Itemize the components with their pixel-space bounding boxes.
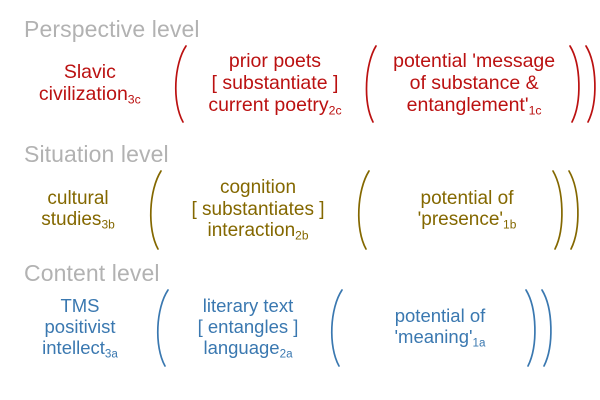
- middle-term-subscript: 2a: [280, 347, 293, 360]
- middle-term-line: language2a: [172, 338, 324, 360]
- inner-term-word: 'meaning': [395, 326, 473, 347]
- open-paren-middle-content: [150, 288, 172, 368]
- middle-term-subscript: 2c: [329, 103, 342, 117]
- outer-term-line: TMS: [18, 296, 142, 317]
- open-paren-inner-content: [324, 288, 346, 368]
- outer-term-line: positivist: [18, 317, 142, 338]
- open-paren-middle-situation: [143, 169, 165, 251]
- inner-term-line: potential of: [356, 306, 524, 327]
- outer-term-line: Slavic: [18, 61, 162, 83]
- close-paren-inner-perspective: [568, 44, 584, 124]
- outer-term-line: studies3b: [18, 209, 138, 232]
- middle-term-line: [ entangles ]: [172, 317, 324, 338]
- inner-term-line: potential of: [383, 188, 551, 209]
- level-title-content: Content level: [0, 262, 600, 285]
- close-paren-middle-situation: [567, 169, 583, 251]
- three-level-notation-diagram: Perspective level Slavic civilization3c …: [0, 0, 600, 400]
- middle-term-line: prior poets: [190, 50, 361, 72]
- middle-term-line: cognition: [165, 177, 351, 198]
- outer-term-subscript: 3c: [128, 92, 141, 106]
- open-paren-middle-perspective: [168, 44, 190, 124]
- level-title-perspective: Perspective level: [0, 18, 600, 41]
- inner-term-line: 'meaning'1a: [356, 327, 524, 349]
- middle-term-word: language: [203, 337, 279, 358]
- level-group-situation: Situation level cultural studies3b cogni…: [0, 143, 600, 251]
- middle-term-line: interaction2b: [165, 220, 351, 243]
- middle-term-line: current poetry2c: [190, 94, 361, 118]
- outer-term-word: studies: [41, 209, 101, 230]
- outer-term-perspective: Slavic civilization3c: [18, 61, 162, 107]
- inner-term-subscript: 1b: [503, 218, 516, 232]
- middle-term-word: current poetry: [208, 94, 328, 116]
- close-paren-inner-content: [524, 288, 540, 368]
- open-paren-inner-perspective: [360, 44, 380, 124]
- outer-term-line: civilization3c: [18, 83, 162, 107]
- expression-row-content: TMS positivist intellect3a literary text…: [0, 288, 600, 368]
- outer-term-subscript: 3b: [101, 218, 114, 232]
- close-paren-middle-content: [540, 288, 556, 368]
- level-group-content: Content level TMS positivist intellect3a…: [0, 262, 600, 368]
- inner-term-subscript: 1c: [529, 103, 542, 117]
- close-paren-inner-situation: [551, 169, 567, 251]
- inner-term-line: entanglement'1c: [380, 94, 568, 118]
- middle-term-perspective: prior poets [ substantiate ] current poe…: [190, 50, 361, 118]
- inner-term-line: of substance &: [380, 72, 568, 94]
- inner-term-line: potential 'message: [380, 50, 568, 72]
- expression-row-situation: cultural studies3b cognition [ substanti…: [0, 169, 600, 251]
- level-title-situation: Situation level: [0, 143, 600, 166]
- outer-term-situation: cultural studies3b: [18, 188, 138, 232]
- inner-term-word: 'presence': [418, 209, 503, 230]
- middle-term-line: [ substantiates ]: [165, 199, 351, 220]
- outer-term-word: civilization: [39, 83, 128, 105]
- close-paren-middle-perspective: [584, 44, 600, 124]
- outer-term-word: intellect: [42, 337, 105, 358]
- inner-term-word: entanglement': [407, 94, 529, 116]
- inner-term-content: potential of 'meaning'1a: [346, 306, 524, 349]
- level-group-perspective: Perspective level Slavic civilization3c …: [0, 18, 600, 124]
- middle-term-situation: cognition [ substantiates ] interaction2…: [165, 177, 351, 243]
- inner-term-line: 'presence'1b: [383, 209, 551, 232]
- inner-term-subscript: 1a: [473, 336, 486, 349]
- inner-term-situation: potential of 'presence'1b: [373, 188, 551, 232]
- outer-term-line: intellect3a: [18, 338, 142, 360]
- outer-term-subscript: 3a: [105, 347, 118, 360]
- open-paren-inner-situation: [351, 169, 373, 251]
- middle-term-line: literary text: [172, 296, 324, 317]
- outer-term-content: TMS positivist intellect3a: [18, 296, 142, 360]
- middle-term-word: interaction: [208, 220, 296, 241]
- middle-term-line: [ substantiate ]: [190, 72, 361, 94]
- middle-term-content: literary text [ entangles ] language2a: [172, 296, 324, 360]
- inner-term-perspective: potential 'message of substance & entang…: [380, 50, 568, 118]
- outer-term-line: cultural: [18, 188, 138, 209]
- middle-term-subscript: 2b: [295, 228, 308, 242]
- expression-row-perspective: Slavic civilization3c prior poets [ subs…: [0, 44, 600, 124]
